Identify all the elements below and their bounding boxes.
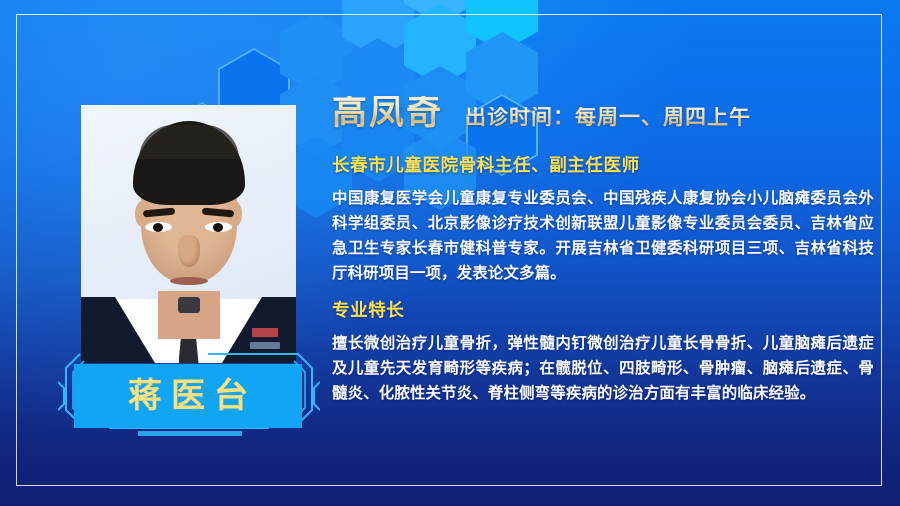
- doctor-profile-poster: 蒋医台 高凤奇 出诊时间：每周一、周四上午 长春市儿童医院骨科主任、副主任医师 …: [0, 0, 900, 506]
- doctor-portrait-photo: [81, 105, 296, 363]
- credentials-paragraph: 中国康复医学会儿童康复专业委员会、中国残疾人康复协会小儿脑瘫委员会外科学组委员、…: [332, 186, 874, 286]
- portrait-nose: [178, 235, 200, 267]
- nameplate-banner: 蒋医台: [74, 364, 302, 428]
- portrait-badge-secondary: [250, 342, 280, 349]
- portrait-hair: [133, 121, 245, 205]
- consultation-schedule: 出诊时间：每周一、周四上午: [465, 107, 751, 128]
- portrait-eye-left: [145, 222, 172, 232]
- nameplate-label: 蒋医台: [119, 379, 257, 413]
- portrait-background: [81, 105, 296, 363]
- portrait-tie-knot: [178, 297, 200, 313]
- doctor-header-line: 高凤奇 出诊时间：每周一、周四上午: [332, 96, 874, 131]
- profile-content: 高凤奇 出诊时间：每周一、周四上午 长春市儿童医院骨科主任、副主任医师 中国康复…: [332, 96, 874, 406]
- portrait-mouth: [170, 277, 208, 285]
- specialty-paragraph: 擅长微创治疗儿童骨折，弹性髓内钉微创治疗儿童长骨骨折、儿童脑瘫后遗症及儿童先天发…: [332, 331, 874, 406]
- doctor-title: 长春市儿童医院骨科主任、副主任医师: [332, 152, 874, 177]
- portrait-badge: [252, 328, 278, 337]
- specialty-heading: 专业特长: [332, 297, 874, 322]
- doctor-name: 高凤奇: [332, 96, 443, 131]
- portrait-eye-right: [205, 222, 232, 232]
